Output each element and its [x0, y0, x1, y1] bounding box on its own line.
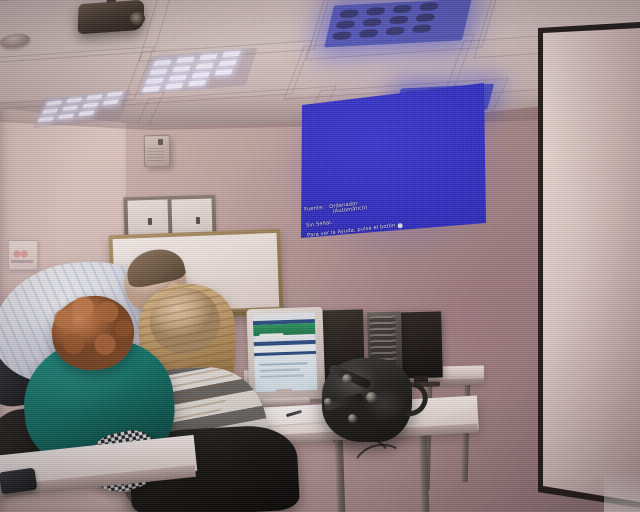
projected-image: Fuente: Ordenador (Automático) Sin Señal…	[300, 78, 486, 238]
window-latch-right[interactable]	[196, 217, 200, 224]
crt-monitor-screen[interactable]	[253, 312, 318, 392]
wall-sign-graphic	[12, 250, 32, 258]
panel-glow	[604, 470, 640, 512]
light-panel-right-near-icon	[324, 0, 472, 48]
backpack-buckle-3	[348, 414, 357, 423]
backpack-buckle-1	[342, 374, 352, 384]
wall-sign-bar	[11, 260, 33, 263]
osd-source-sub: (Automático)	[332, 206, 367, 215]
window-latch-left[interactable]	[148, 218, 152, 225]
menu-button-glyph-icon	[397, 223, 403, 229]
speaker-grill	[147, 148, 164, 161]
backpack-buckle-4	[324, 398, 332, 406]
monitor-dark-far	[397, 311, 443, 378]
backpack-buckle-2	[366, 392, 377, 403]
projection-screen-panel	[540, 28, 640, 502]
speaker-indicator-icon	[158, 139, 163, 145]
classroom-photo: Fuente: Ordenador (Automático) Sin Señal…	[0, 0, 640, 512]
